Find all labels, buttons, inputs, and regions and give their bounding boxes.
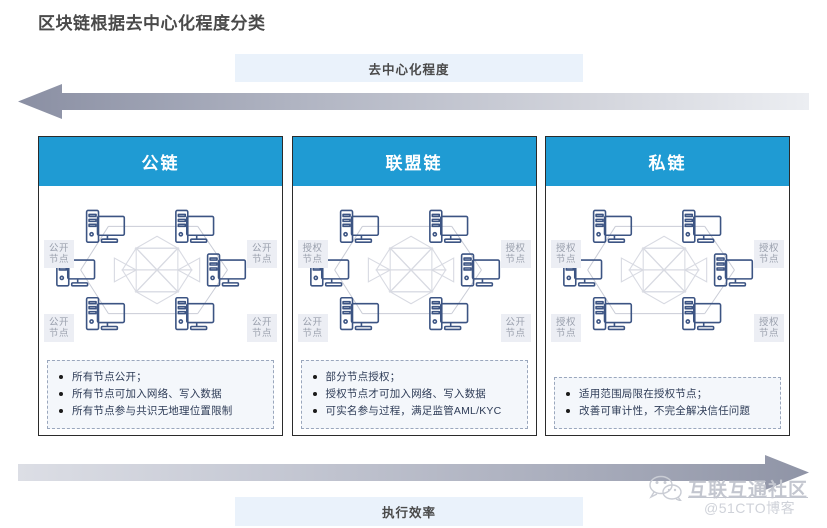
node-label-bottom-left: 授权节点	[551, 314, 581, 342]
decentralization-degree-label: 去中心化程度	[235, 54, 583, 82]
node-label-bottom-right: 授权节点	[754, 314, 784, 342]
card-body-consortium-chain: 授权节点 授权节点 公开节点 公开节点 部分节点授权； 授权节点才可加入网络、写…	[293, 186, 536, 435]
card-bullet-box: 所有节点公开； 所有节点可加入网络、写入数据 所有节点参与共识无地理位置限制	[47, 360, 274, 429]
list-item: 适用范围局限在授权节点；	[579, 386, 772, 402]
list-item: 授权节点才可加入网络、写入数据	[326, 386, 519, 402]
card-header-consortium-chain: 联盟链	[293, 137, 536, 186]
node-label-bottom-right: 公开节点	[247, 314, 277, 342]
list-item: 所有节点可加入网络、写入数据	[72, 386, 265, 402]
card-title-text: 公链	[142, 149, 180, 174]
card-header-public-chain: 公链	[39, 137, 282, 186]
watermark-handle: @51CTO博客	[704, 498, 795, 518]
card-title-text: 联盟链	[386, 149, 443, 174]
decentralization-degree-text: 去中心化程度	[368, 59, 449, 78]
list-item: 改善可审计性，不完全解决信任问题	[579, 403, 772, 419]
node-label-top-left: 公开节点	[44, 240, 74, 268]
node-network-diagram	[293, 186, 536, 346]
card-bullet-box: 适用范围局限在授权节点； 改善可审计性，不完全解决信任问题	[554, 377, 781, 429]
list-item: 所有节点公开；	[72, 369, 265, 385]
node-network-diagram	[39, 186, 282, 346]
node-label-top-left: 授权节点	[551, 240, 581, 268]
node-label-top-left: 授权节点	[298, 240, 328, 268]
chain-type-card-row: 公链	[38, 136, 790, 436]
node-label-top-right: 公开节点	[247, 240, 277, 268]
card-bullet-box: 部分节点授权； 授权节点才可加入网络、写入数据 可实名参与过程，满足监管AML/…	[301, 360, 528, 429]
execution-efficiency-arrow-right	[18, 455, 809, 490]
node-label-bottom-right: 公开节点	[501, 314, 531, 342]
card-private-chain[interactable]: 私链	[545, 136, 790, 436]
node-network-diagram	[546, 186, 789, 346]
decentralization-arrow-left	[18, 84, 809, 119]
page-title: 区块链根据去中心化程度分类	[38, 9, 266, 34]
list-item: 部分节点授权；	[326, 369, 519, 385]
card-body-public-chain: 公开节点 公开节点 公开节点 公开节点 所有节点公开； 所有节点可加入网络、写入…	[39, 186, 282, 435]
node-label-bottom-left: 公开节点	[298, 314, 328, 342]
slide-canvas: 区块链根据去中心化程度分类 去中心化程度	[0, 0, 827, 528]
card-consortium-chain[interactable]: 联盟链	[292, 136, 537, 436]
list-item: 可实名参与过程，满足监管AML/KYC	[326, 403, 519, 419]
card-body-private-chain: 授权节点 授权节点 授权节点 授权节点 适用范围局限在授权节点； 改善可审计性，…	[546, 186, 789, 435]
node-label-bottom-left: 公开节点	[44, 314, 74, 342]
card-header-private-chain: 私链	[546, 137, 789, 186]
card-title-text: 私链	[649, 149, 687, 174]
node-label-top-right: 授权节点	[754, 240, 784, 268]
execution-efficiency-text: 执行效率	[382, 502, 436, 521]
list-item: 所有节点参与共识无地理位置限制	[72, 403, 265, 419]
node-label-top-right: 授权节点	[501, 240, 531, 268]
card-public-chain[interactable]: 公链	[38, 136, 283, 436]
execution-efficiency-label: 执行效率	[235, 497, 583, 526]
